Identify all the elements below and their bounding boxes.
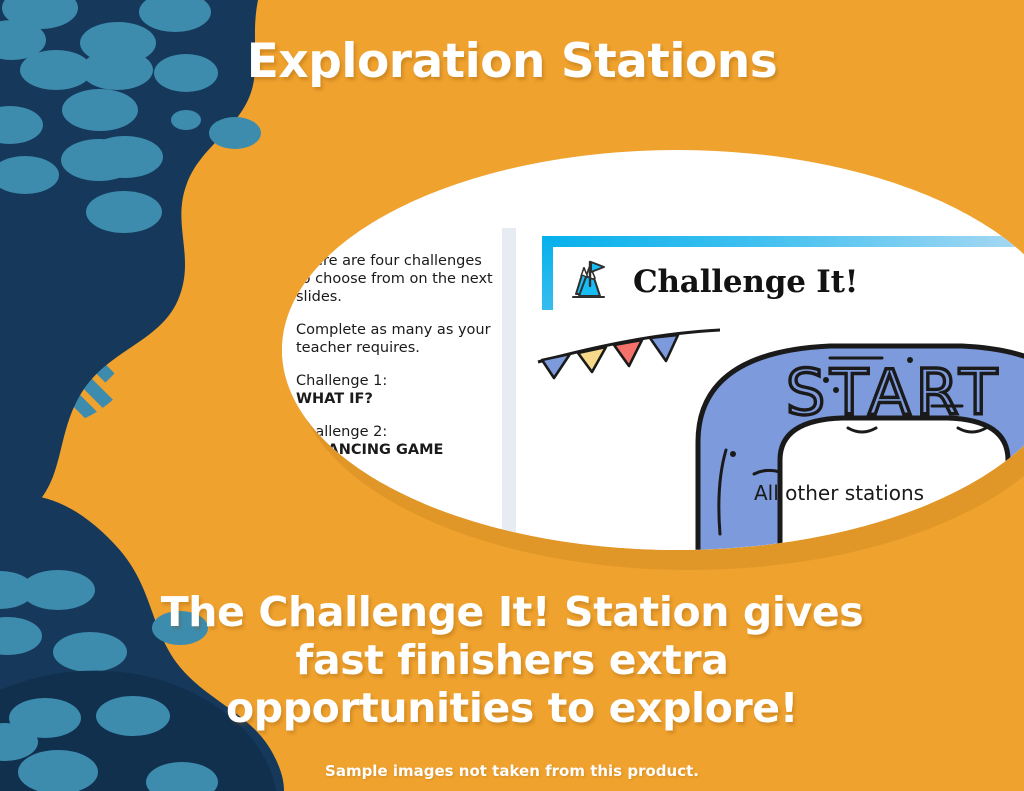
left-slide-paragraph-2: Complete as many as your teacher require… [296, 321, 496, 357]
left-slide-text: There are four challenges to choose from… [296, 252, 496, 474]
preview-slides: There are four challenges to choose from… [282, 228, 1024, 550]
challenge-heading-row: Challenge It! [570, 260, 858, 304]
challenge-1-name: WHAT IF? [296, 391, 373, 407]
subheadline: The Challenge It! Station gives fast fin… [0, 588, 1024, 732]
subheadline-line-2: fast finishers extra [0, 636, 1024, 684]
start-arch-illustration: START [530, 324, 1024, 550]
start-arch-label: START [786, 356, 1002, 429]
disclaimer-text: Sample images not taken from this produc… [0, 762, 1024, 780]
slide-border-top [542, 236, 1024, 247]
right-slide-body-text: All other stations [754, 481, 924, 505]
challenge-2-name: BALANCING GAME [296, 442, 443, 458]
poster-canvas: Exploration Stations There are four chal… [0, 0, 1024, 791]
left-slide-paragraph-1: There are four challenges to choose from… [296, 252, 496, 306]
subheadline-line-1: The Challenge It! Station gives [0, 588, 1024, 636]
left-slide-challenge-1: Challenge 1: WHAT IF? [296, 372, 496, 408]
slide-divider [502, 228, 516, 550]
right-slide-panel: Challenge It! [530, 228, 1024, 550]
accent-dot-top [209, 117, 261, 149]
preview-oval: There are four challenges to choose from… [282, 150, 1024, 550]
challenge-heading: Challenge It! [633, 264, 858, 300]
subheadline-line-3: opportunities to explore! [0, 684, 1024, 732]
challenge-1-label: Challenge 1: [296, 373, 387, 389]
mountain-flag-icon [570, 260, 616, 304]
slide-border-left [542, 236, 553, 310]
challenge-2-label: Challenge 2: [296, 424, 387, 440]
left-slide-panel: There are four challenges to choose from… [282, 228, 500, 550]
left-slide-challenge-2: Challenge 2: BALANCING GAME [296, 423, 496, 459]
page-title: Exploration Stations [0, 34, 1024, 89]
